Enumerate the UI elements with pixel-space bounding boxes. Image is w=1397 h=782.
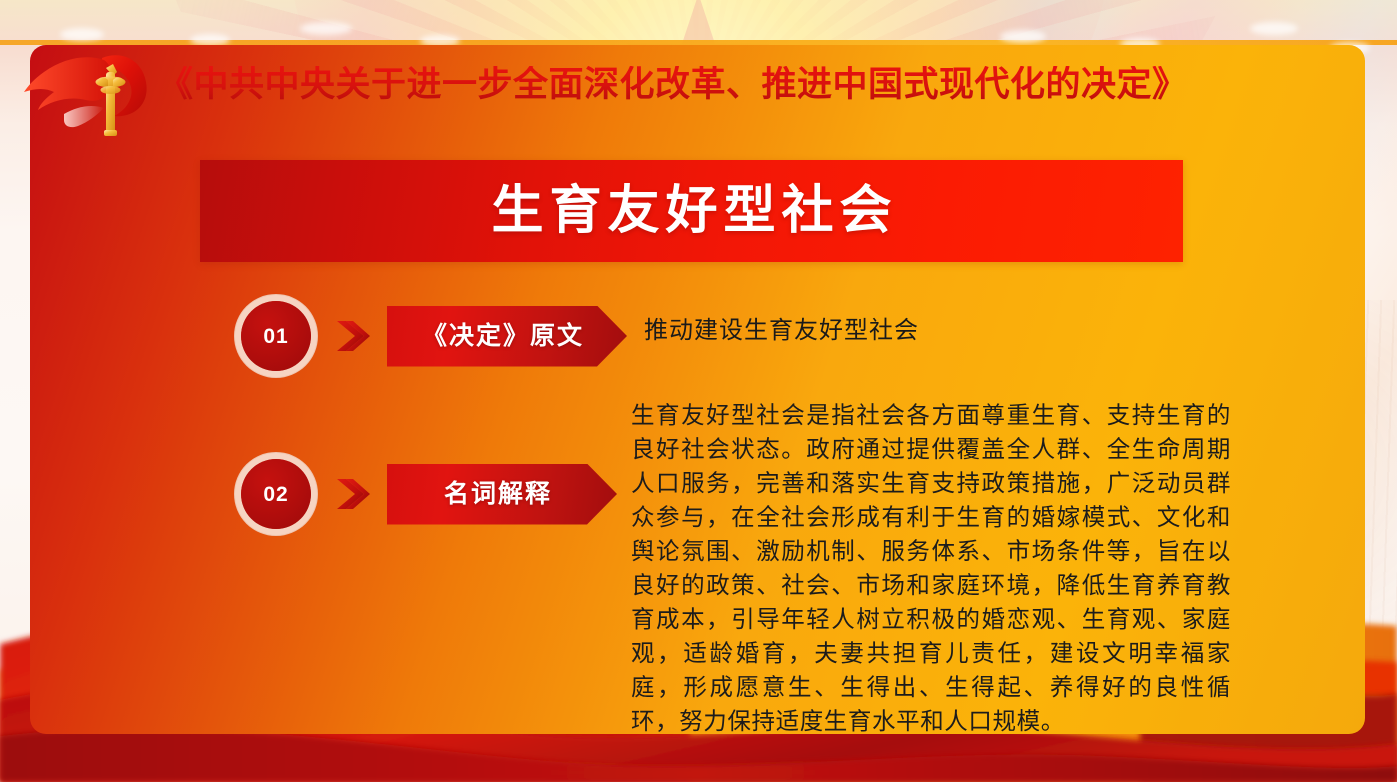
chevron-right-icon <box>333 317 373 355</box>
section-number-02: 02 <box>263 484 288 505</box>
section-tag-02: 名词解释 <box>387 464 617 525</box>
section-body-02: 生育友好型社会是指社会各方面尊重生育、支持生育的良好社会状态。政府通过提供覆盖全… <box>631 398 1231 738</box>
chevron-right-icon <box>333 475 373 513</box>
cloud-fleck <box>1000 30 1046 43</box>
section-tag-label-02: 名词解释 <box>444 482 552 507</box>
cloud-fleck <box>60 28 104 41</box>
cloud-fleck <box>420 35 460 47</box>
page-title: 《中共中央关于进一步全面深化改革、推进中国式现代化的决定》 <box>158 66 1218 105</box>
section-body-01: 推动建设生育友好型社会 <box>644 310 919 345</box>
slide-canvas: 《中共中央关于进一步全面深化改革、推进中国式现代化的决定》 生育友好型社会 01 <box>0 0 1397 782</box>
section-row-01: 01 《决定》原文 <box>241 301 627 371</box>
banner-title: 生育友好型社会 <box>485 185 897 237</box>
section-number-badge-01: 01 <box>241 301 311 371</box>
section-number-01: 01 <box>263 326 288 347</box>
cloud-fleck <box>1250 22 1298 35</box>
section-tag-label-01: 《决定》原文 <box>422 324 584 349</box>
section-tag-01: 《决定》原文 <box>387 306 627 367</box>
section-number-badge-02: 02 <box>241 459 311 529</box>
section-row-02: 02 名词解释 <box>241 459 617 529</box>
cloud-fleck <box>300 22 352 35</box>
main-banner: 生育友好型社会 <box>200 160 1183 262</box>
